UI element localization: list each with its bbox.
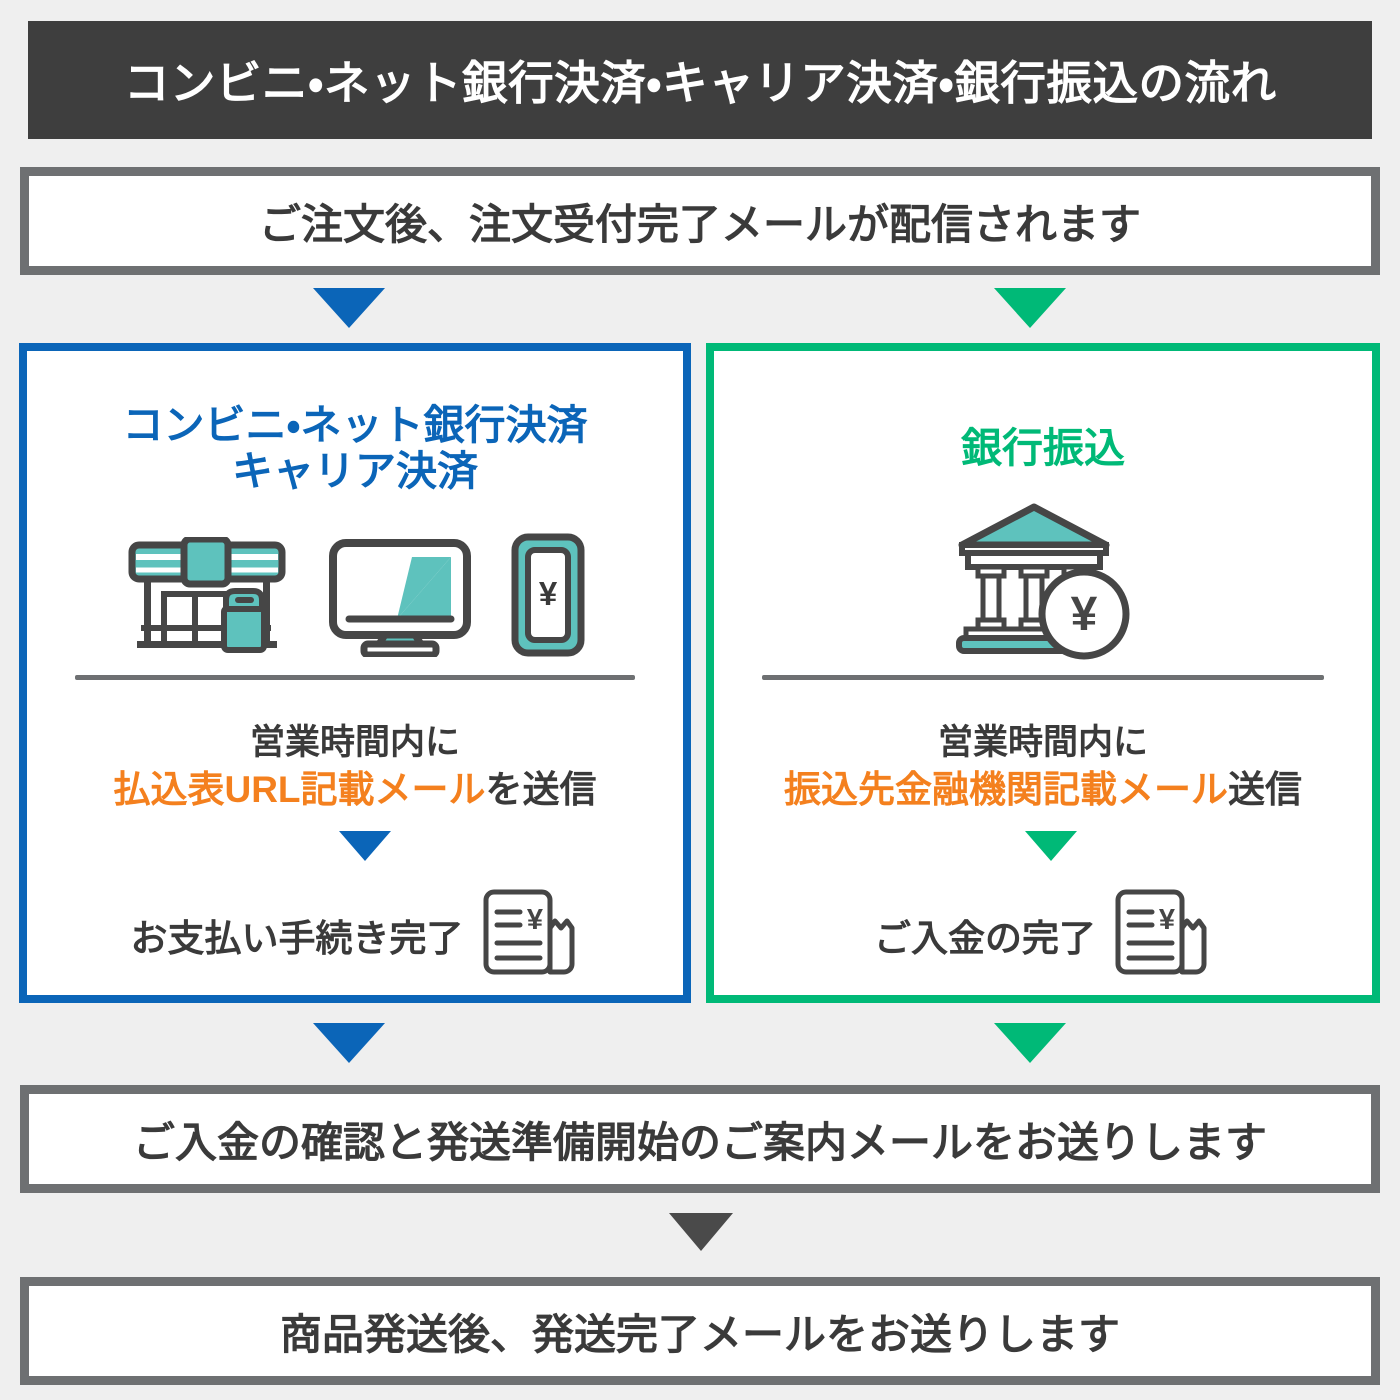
yen-glyph: ¥ (539, 575, 558, 612)
down-arrow-green-small-icon (1025, 831, 1077, 861)
diagram-title-bar: コンビニ・ネット銀行決済・キャリア決済・銀行振込の流れ (28, 21, 1372, 139)
bank-result-label: ご入金の完了 (874, 908, 1096, 962)
desktop-monitor-icon (325, 537, 475, 657)
convenience-store-icon (123, 537, 291, 657)
panel-convenience-payment: コンビニ・ネット銀行決済 キャリア決済 (19, 343, 691, 1003)
step-box-payment-confirmed: ご入金の確認と発送準備開始のご案内メールをお送りします (20, 1085, 1380, 1193)
down-arrow-blue-icon (313, 1023, 385, 1063)
bank-message-line1: 営業時間内に (714, 721, 1372, 766)
convenience-icon-row: ¥ (27, 527, 683, 657)
yen-glyph: ¥ (1071, 588, 1098, 641)
bank-message-suffix: 送信 (1228, 769, 1302, 810)
panel-bank-transfer: 銀行振込 (706, 343, 1380, 1003)
convenience-message: 営業時間内に 払込表URL記載メールを送信 (27, 721, 683, 813)
panel-convenience-heading-line1: コンビニ・ネット銀行決済 (123, 402, 588, 448)
bank-result-row: ご入金の完了 ¥ (714, 889, 1372, 981)
bank-divider (762, 675, 1324, 680)
convenience-message-line2: 払込表URL記載メールを送信 (27, 766, 683, 813)
bank-message-highlight: 振込先金融機関記載メール (784, 769, 1228, 810)
panel-convenience-heading-line2: キャリア決済 (232, 448, 478, 494)
down-arrow-blue-icon (313, 288, 385, 328)
yen-glyph: ¥ (526, 904, 542, 936)
receipt-yen-icon: ¥ (1108, 886, 1212, 984)
step-box-order-received: ご注文後、注文受付完了メールが配信されます (20, 167, 1380, 275)
panel-convenience-heading: コンビニ・ネット銀行決済 キャリア決済 (27, 403, 683, 495)
convenience-message-line1: 営業時間内に (27, 721, 683, 766)
convenience-divider (75, 675, 635, 680)
receipt-yen-icon: ¥ (476, 886, 580, 984)
panel-bank-heading-line1: 銀行振込 (961, 425, 1125, 471)
yen-glyph: ¥ (1159, 904, 1175, 936)
down-arrow-blue-small-icon (339, 831, 391, 861)
bank-icon-row: ¥ (714, 501, 1372, 661)
bank-message-line2: 振込先金融機関記載メール送信 (714, 766, 1372, 813)
page-title: コンビニ・ネット銀行決済・キャリア決済・銀行振込の流れ (124, 47, 1277, 113)
payment-flow-diagram: コンビニ・ネット銀行決済・キャリア決済・銀行振込の流れ ご注文後、注文受付完了メ… (0, 0, 1400, 1400)
smartphone-yen-icon: ¥ (509, 533, 587, 657)
down-arrow-green-icon (994, 1023, 1066, 1063)
step-box-shipped: 商品発送後、発送完了メールをお送りします (20, 1277, 1380, 1385)
panel-bank-heading: 銀行振込 (714, 426, 1372, 472)
convenience-message-suffix: を送信 (486, 769, 597, 810)
bank-message: 営業時間内に 振込先金融機関記載メール送信 (714, 721, 1372, 813)
convenience-result-row: お支払い手続き完了 ¥ (27, 889, 683, 981)
down-arrow-green-icon (994, 288, 1066, 328)
convenience-message-highlight: 払込表URL記載メール (113, 769, 485, 810)
convenience-result-label: お支払い手続き完了 (131, 908, 464, 962)
down-arrow-dark-icon (669, 1213, 733, 1251)
step-order-received-label: ご注文後、注文受付完了メールが配信されます (259, 191, 1141, 252)
step-payment-confirmed-label: ご入金の確認と発送準備開始のご案内メールをお送りします (133, 1109, 1267, 1170)
bank-building-yen-icon: ¥ (948, 501, 1138, 661)
step-shipped-label: 商品発送後、発送完了メールをお送りします (280, 1301, 1120, 1362)
